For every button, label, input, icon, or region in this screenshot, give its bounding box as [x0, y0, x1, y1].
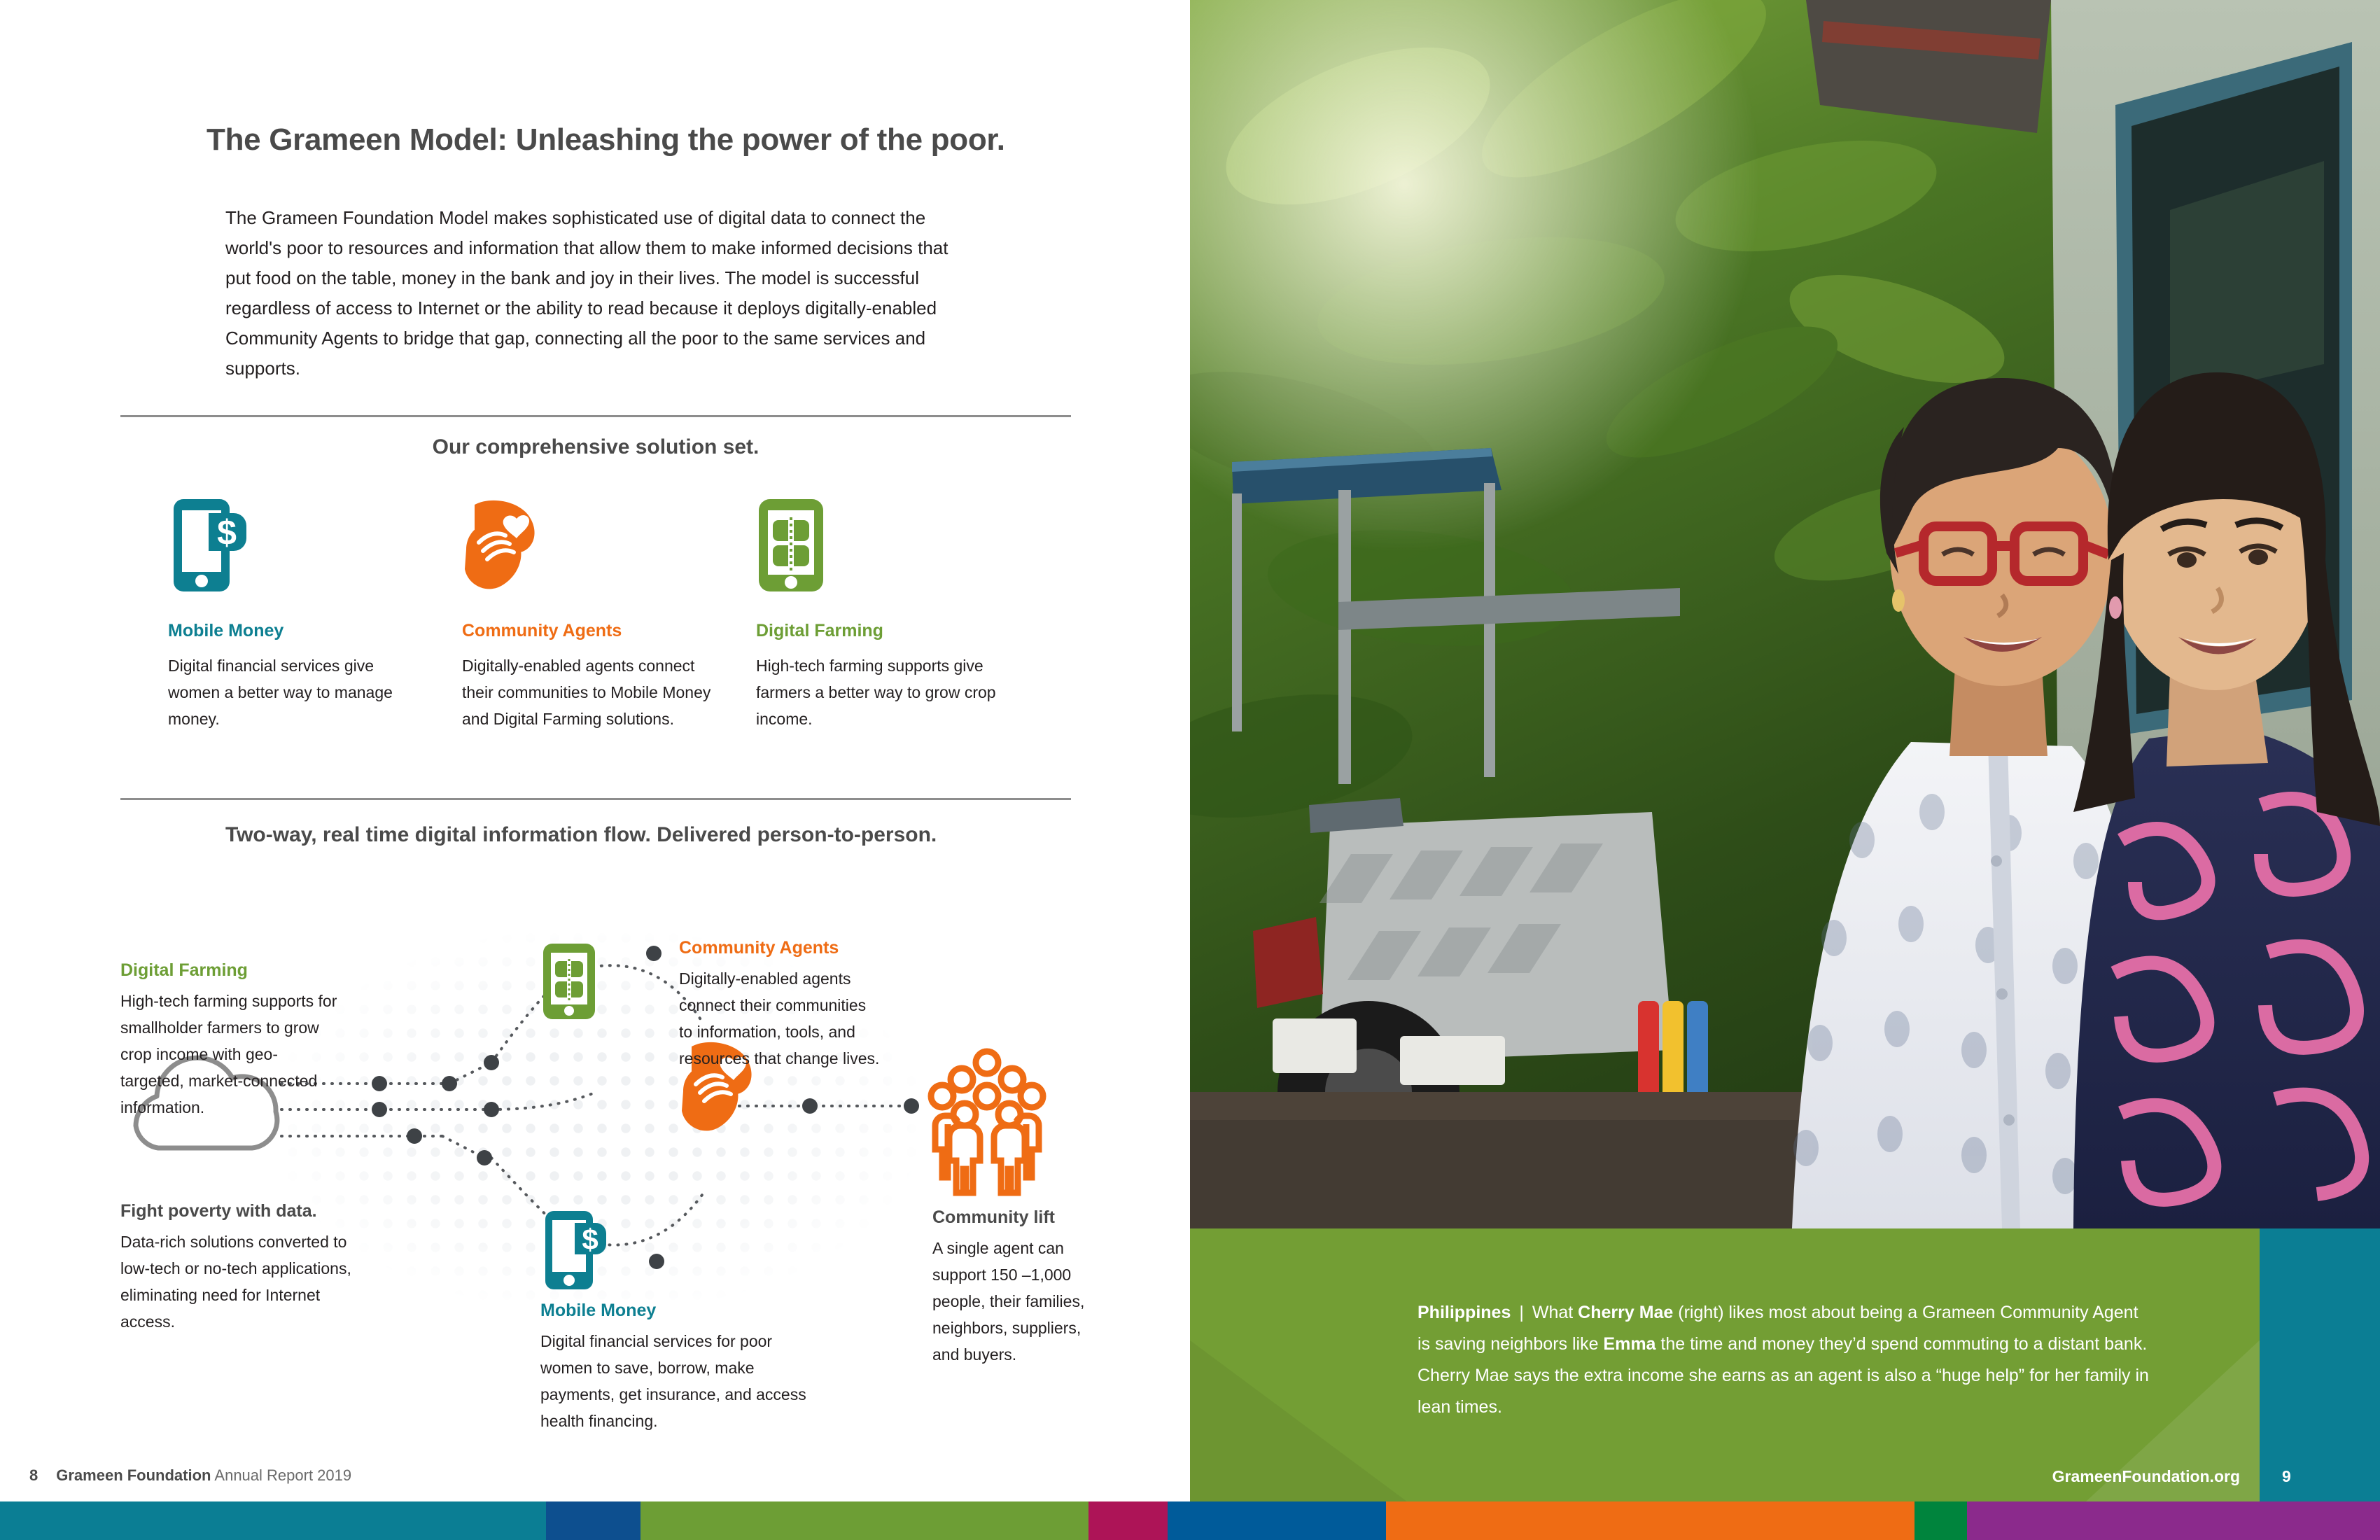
card-title: Mobile Money [168, 621, 427, 641]
color-bar-segment-dark-green [1914, 1501, 1967, 1540]
color-bar-segment-blue [1168, 1501, 1386, 1540]
section-title-flow: Two-way, real time digital information f… [225, 823, 1065, 847]
color-bar-segment-magenta [1088, 1501, 1168, 1540]
section-title-solutions: Our comprehensive solution set. [120, 435, 1071, 459]
color-bar-segment-teal [0, 1501, 546, 1540]
svg-text:$: $ [217, 513, 237, 552]
community-agents-hands-icon [462, 497, 721, 591]
card-body: Digitally-enabled agents connect their c… [462, 652, 721, 732]
svg-text:$: $ [582, 1223, 598, 1256]
block-title: Digital Farming [120, 960, 337, 981]
footer-report: Annual Report 2019 [214, 1466, 351, 1484]
card-body: High-tech farming supports give farmers … [756, 652, 1015, 732]
photo-two-women [1190, 0, 2380, 1228]
block-title: Fight poverty with data. [120, 1201, 351, 1221]
block-body: Data-rich solutions converted to low-tec… [120, 1228, 351, 1335]
caption-name-emma: Emma [1603, 1334, 1655, 1354]
color-bar-segment-purple [1967, 1501, 2380, 1540]
divider-rule-bottom [120, 798, 1071, 800]
block-title: Mobile Money [540, 1301, 827, 1321]
caption-country: Philippines [1417, 1303, 1511, 1322]
block-title: Community lift [932, 1207, 1100, 1228]
card-title: Community Agents [462, 621, 721, 641]
footer-url: GrameenFoundation.org [2052, 1467, 2240, 1486]
left-page: The Grameen Model: Unleashing the power … [0, 0, 1190, 1540]
solution-card-mobile-money: $ Mobile Money Digital financial service… [168, 497, 427, 732]
card-title: Digital Farming [756, 621, 1015, 641]
diagram-block-community-lift: Community lift A single agent can suppor… [932, 1207, 1100, 1368]
divider-rule-top [120, 415, 1071, 417]
diagram-block-fight-poverty: Fight poverty with data. Data-rich solut… [120, 1201, 351, 1335]
block-body: Digital financial services for poor wome… [540, 1328, 827, 1434]
block-body: Digitally-enabled agents connect their c… [679, 965, 882, 1072]
caption-panel: Philippines|What Cherry Mae (right) like… [1190, 1228, 2380, 1501]
mobile-money-phone-icon: $ [545, 1211, 606, 1289]
footer-left: 8Grameen Foundation Annual Report 2019 [29, 1466, 351, 1485]
caption-name-cherry-mae: Cherry Mae [1578, 1303, 1673, 1322]
page-number-badge: 9 [2260, 1228, 2380, 1501]
digital-farming-phone-icon [543, 944, 595, 1019]
color-bar-segment-orange [1386, 1501, 1914, 1540]
page-number-right: 9 [2282, 1467, 2291, 1486]
solution-cards: $ Mobile Money Digital financial service… [168, 497, 1050, 763]
footer-org: Grameen Foundation [56, 1466, 211, 1484]
color-bar-segment-dark-blue [546, 1501, 640, 1540]
photo-caption: Philippines|What Cherry Mae (right) like… [1417, 1297, 2152, 1423]
diagram-block-mobile-money: Mobile Money Digital financial services … [540, 1301, 827, 1434]
intro-paragraph: The Grameen Foundation Model makes sophi… [225, 203, 971, 384]
people-group-icon [931, 1051, 1043, 1193]
card-body: Digital financial services give women a … [168, 652, 427, 732]
page-title: The Grameen Model: Unleashing the power … [206, 122, 1081, 157]
diagram-block-digital-farming: Digital Farming High-tech farming suppor… [120, 960, 337, 1121]
information-flow-diagram: $ [120, 861, 1100, 1400]
caption-part1: What [1532, 1303, 1578, 1322]
digital-farming-icon [756, 497, 1015, 591]
block-title: Community Agents [679, 938, 882, 958]
solution-card-community-agents: Community Agents Digitally-enabled agent… [462, 497, 721, 732]
bottom-color-bar [0, 1501, 2380, 1540]
solution-card-digital-farming: Digital Farming High-tech farming suppor… [756, 497, 1015, 732]
diagram-block-community-agents: Community Agents Digitally-enabled agent… [679, 938, 882, 1072]
spread-page: The Grameen Model: Unleashing the power … [0, 0, 2380, 1540]
mobile-money-icon: $ [168, 497, 427, 591]
decorative-triangle-2 [1190, 1319, 1407, 1501]
block-body: High-tech farming supports for smallhold… [120, 988, 337, 1121]
page-number-left: 8 [29, 1466, 38, 1484]
color-bar-segment-green [640, 1501, 1088, 1540]
right-page: Philippines|What Cherry Mae (right) like… [1190, 0, 2380, 1540]
caption-divider: | [1519, 1303, 1524, 1322]
block-body: A single agent can support 150 –1,000 pe… [932, 1235, 1100, 1368]
